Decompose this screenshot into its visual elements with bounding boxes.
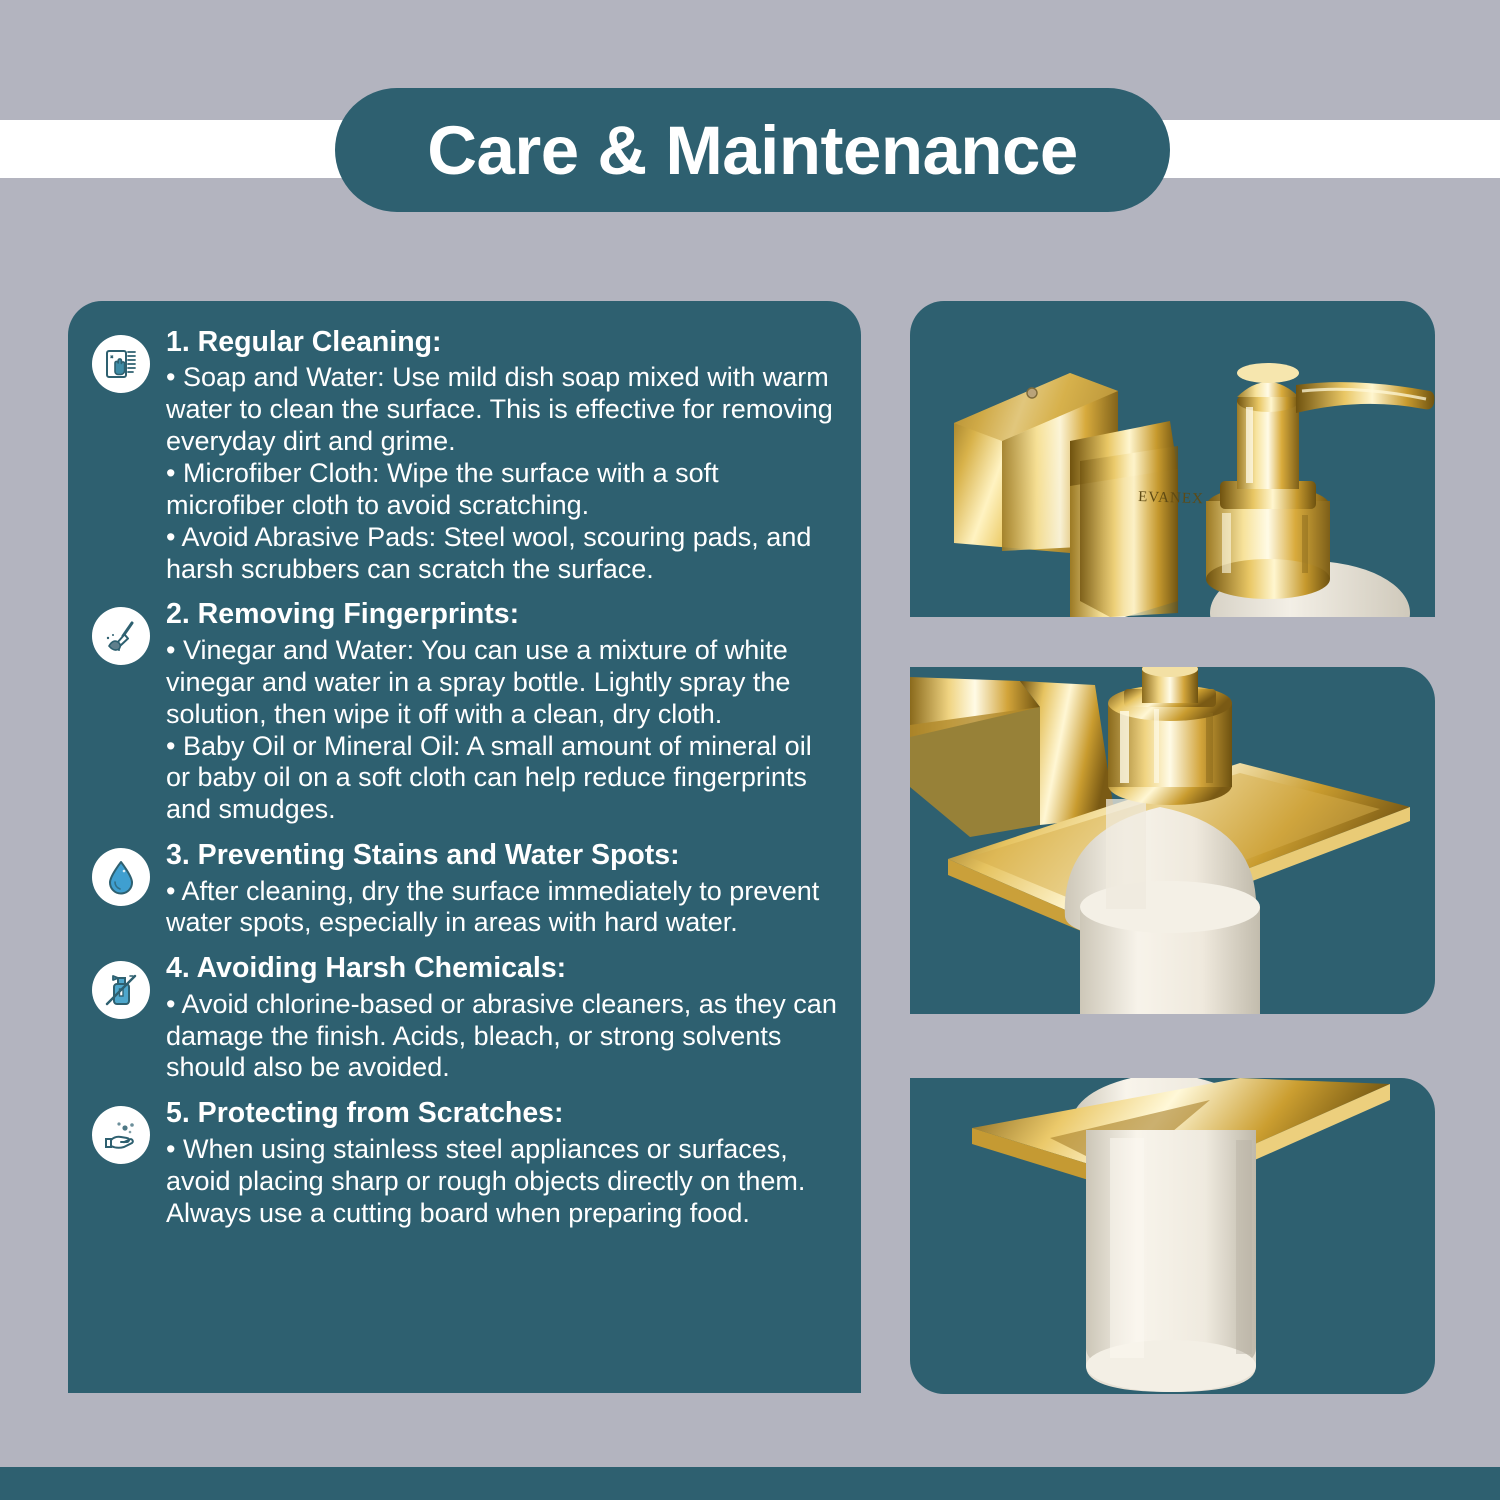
section-line: • Avoid chlorine-based or abrasive clean… xyxy=(166,989,843,1085)
section-line: • After cleaning, dry the surface immedi… xyxy=(166,876,843,940)
instruction-body-5: 5. Protecting from Scratches: • When usi… xyxy=(166,1094,843,1229)
section-line: • Avoid Abrasive Pads: Steel wool, scour… xyxy=(166,522,843,586)
product-image-2 xyxy=(910,667,1435,1014)
section-heading: 3. Preventing Stains and Water Spots: xyxy=(166,836,843,874)
section-heading: 2. Removing Fingerprints: xyxy=(166,595,843,633)
section-heading: 4. Avoiding Harsh Chemicals: xyxy=(166,949,843,987)
section-line: • Microfiber Cloth: Wipe the surface wit… xyxy=(166,458,843,522)
section-line: • Vinegar and Water: You can use a mixtu… xyxy=(166,635,843,731)
broom-sweeping-icon xyxy=(92,607,150,665)
instruction-section-4: 4. Avoiding Harsh Chemicals: • Avoid chl… xyxy=(92,949,843,1084)
section-line: • Baby Oil or Mineral Oil: A small amoun… xyxy=(166,731,843,827)
instruction-body-2: 2. Removing Fingerprints: • Vinegar and … xyxy=(166,595,843,826)
gold-dispenser-pump-and-frosted-glass-closeup xyxy=(910,667,1435,1014)
frosted-glass-bottle-in-gold-holder-closeup xyxy=(910,1078,1435,1394)
hand-wiping-window-icon xyxy=(92,335,150,393)
instruction-section-1: 1. Regular Cleaning: • Soap and Water: U… xyxy=(92,323,843,585)
instruction-body-4: 4. Avoiding Harsh Chemicals: • Avoid chl… xyxy=(166,949,843,1084)
instruction-section-3: 3. Preventing Stains and Water Spots: • … xyxy=(92,836,843,939)
instruction-section-5: 5. Protecting from Scratches: • When usi… xyxy=(92,1094,843,1229)
section-heading: 1. Regular Cleaning: xyxy=(166,323,843,361)
product-image-1: EVANEX xyxy=(910,301,1435,617)
footer-bar xyxy=(0,1467,1500,1500)
instruction-section-2: 2. Removing Fingerprints: • Vinegar and … xyxy=(92,595,843,826)
water-drop-icon xyxy=(92,848,150,906)
hand-washing-icon xyxy=(92,1106,150,1164)
page-title: Care & Maintenance xyxy=(427,116,1078,185)
section-line: • When using stainless steel appliances … xyxy=(166,1134,843,1230)
no-spray-bottle-icon xyxy=(92,961,150,1019)
instruction-body-1: 1. Regular Cleaning: • Soap and Water: U… xyxy=(166,323,843,585)
brand-label: EVANEX xyxy=(1138,489,1204,507)
product-image-3 xyxy=(910,1078,1435,1394)
instruction-body-3: 3. Preventing Stains and Water Spots: • … xyxy=(166,836,843,939)
section-heading: 5. Protecting from Scratches: xyxy=(166,1094,843,1132)
gold-soap-dispenser-with-wall-bracket: EVANEX xyxy=(910,301,1435,617)
care-instructions-panel: 1. Regular Cleaning: • Soap and Water: U… xyxy=(68,301,861,1393)
section-line: • Soap and Water: Use mild dish soap mix… xyxy=(166,362,843,458)
page-title-pill: Care & Maintenance xyxy=(335,88,1170,212)
